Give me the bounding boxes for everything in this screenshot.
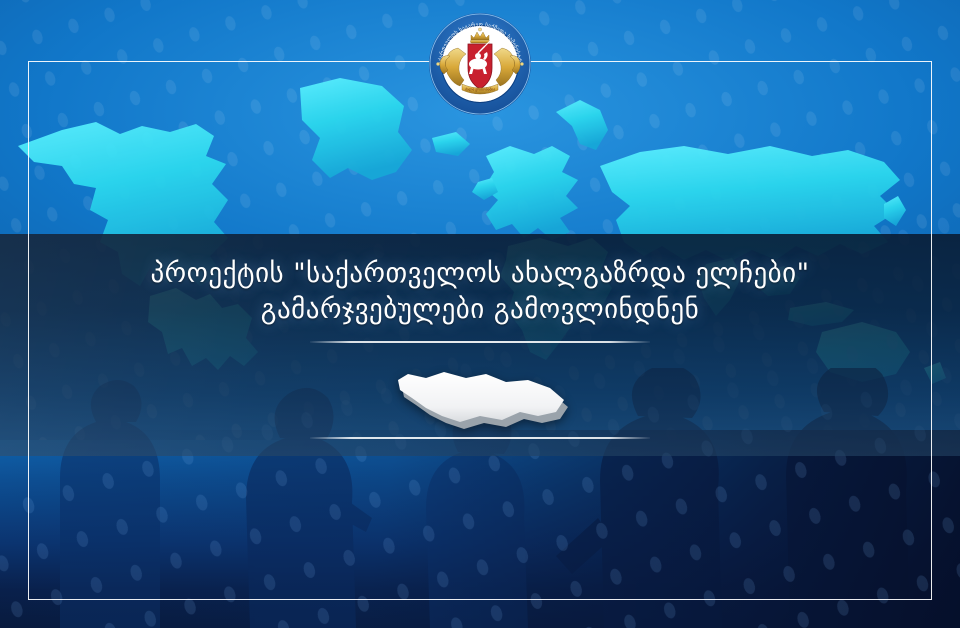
poster-title: პროექტის "საქართველოს ახალგაზრდა ელჩები"… (0, 256, 960, 328)
georgia-coat-of-arms-icon: საქართველოს საგარეო საქმეთა სამინისტრო D… (428, 12, 532, 116)
title-line-1: პროექტის "საქართველოს ახალგაზრდა ელჩები" (0, 256, 960, 292)
georgia-country-silhouette (382, 358, 578, 432)
title-line-2: გამარჯვებულები გამოვლინდნენ (0, 292, 960, 328)
poster-canvas: საქართველოს საგარეო საქმეთა სამინისტრო D… (0, 0, 960, 628)
divider-rule-bottom (310, 437, 650, 439)
divider-rule-top (310, 341, 650, 343)
svg-text:ძალა ერთობაშია: ძალა ერთობაშია (465, 87, 495, 91)
